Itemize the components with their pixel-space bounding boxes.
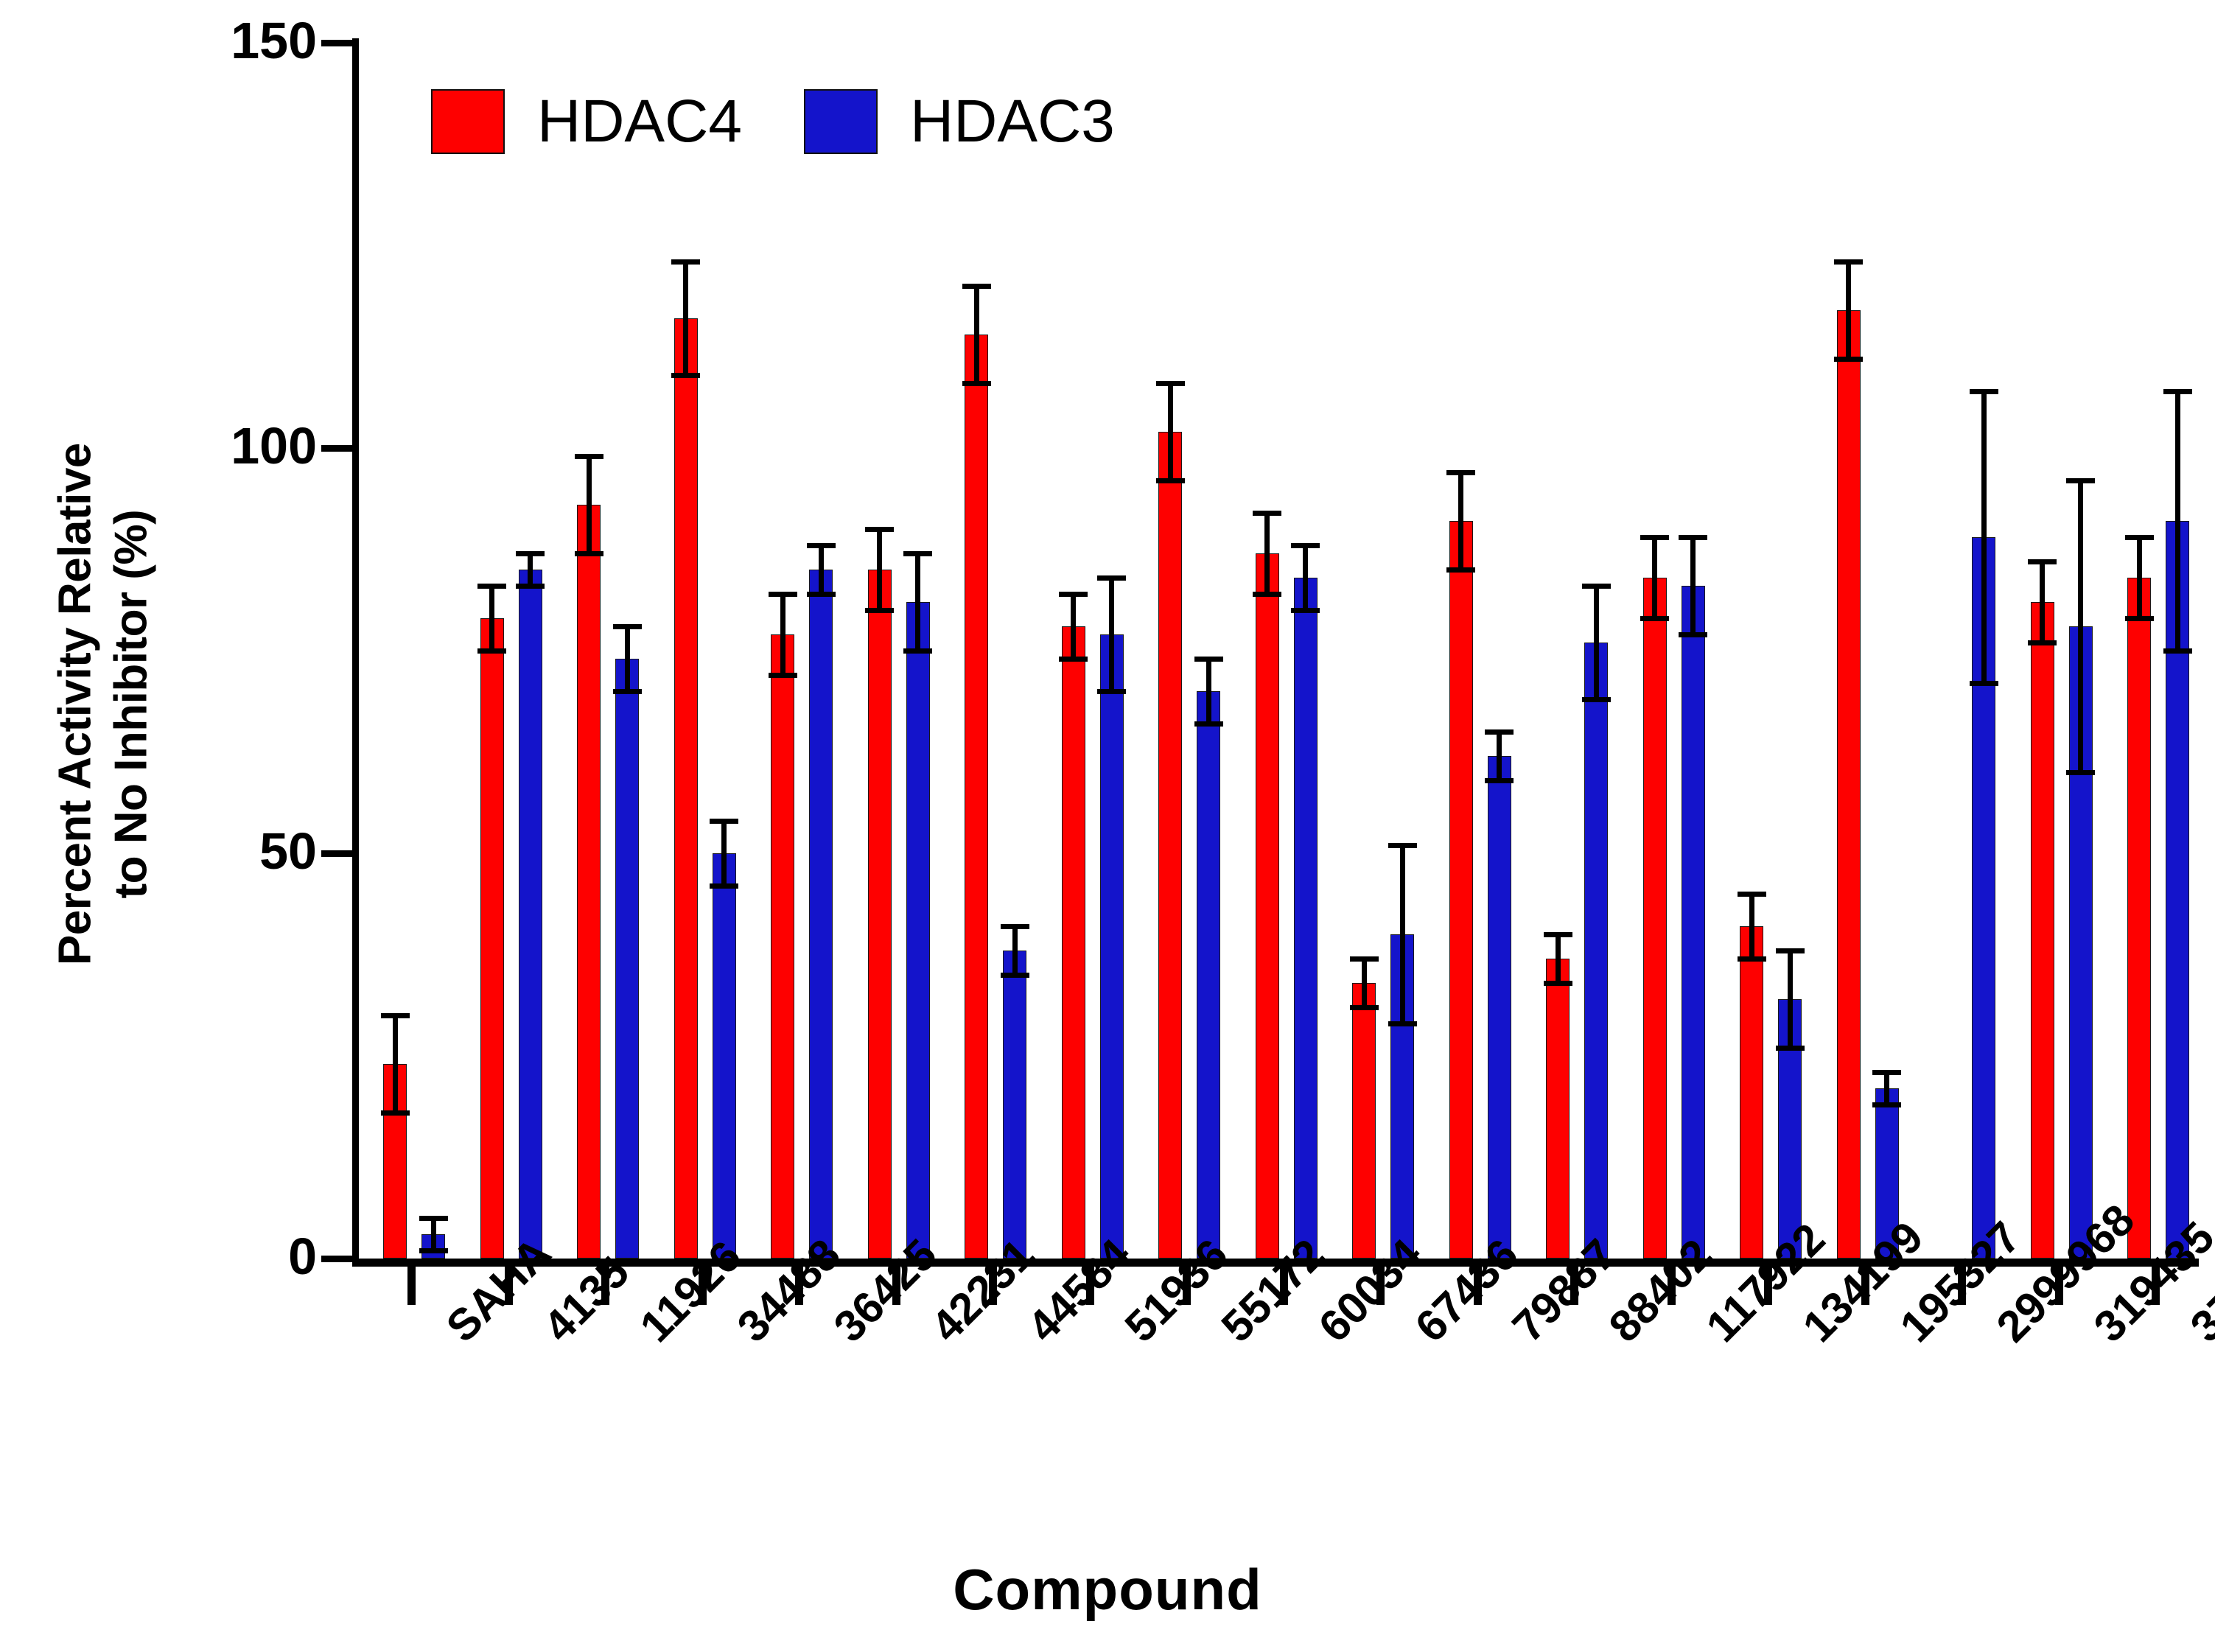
bar-hdac4-51936 xyxy=(1062,626,1085,1259)
bar-hdac4-117922-error-cap-lower xyxy=(1640,616,1669,621)
bar-hdac4-42231 xyxy=(868,570,892,1259)
bar-hdac3-60034-error-cap-lower xyxy=(1291,608,1320,613)
bar-hdac3-79887-error-cap-lower xyxy=(1485,778,1514,783)
bar-hdac3-51936-error-cap-lower xyxy=(1097,689,1126,694)
y-tick-label-50: 50 xyxy=(7,825,317,877)
x-axis-label-4135: 4135 xyxy=(533,1316,570,1352)
bar-hdac4-51936-error-cap-lower xyxy=(1059,657,1088,662)
bar-hdac3-195327-error-cap-upper xyxy=(1872,1070,1901,1075)
bar-hdac3-36425-error-cap-upper xyxy=(807,543,836,548)
bar-hdac3-42231-error-cap-lower xyxy=(903,648,932,654)
x-axis-label-36425: 36425 xyxy=(824,1316,860,1352)
x-tick-67436 xyxy=(1376,1267,1385,1305)
bar-hdac3-34488 xyxy=(713,853,736,1259)
bar-hdac4-319435-error-cap-upper xyxy=(2028,559,2057,564)
bar-hdac3-51936-error-cap-upper xyxy=(1097,575,1126,581)
bar-hdac4-42231-error-cap-lower xyxy=(865,608,894,613)
x-tick-319435 xyxy=(2055,1267,2063,1305)
bar-hdac4-42231-error-line xyxy=(877,529,882,610)
bar-hdac4-88402-error-line xyxy=(1556,934,1561,983)
bar-hdac4-34488-error-line xyxy=(683,262,688,375)
x-tick-117922 xyxy=(1668,1267,1676,1305)
bar-hdac3-34488-error-cap-lower xyxy=(710,883,738,889)
bar-hdac4-11926-error-cap-lower xyxy=(575,551,603,556)
bar-hdac4-373535 xyxy=(2127,578,2151,1259)
bar-hdac3-SAHA-error-cap-upper xyxy=(419,1216,448,1221)
x-tick-88402 xyxy=(1570,1267,1578,1305)
x-tick-373535 xyxy=(2152,1267,2160,1305)
legend-item-hdac3: HDAC3 xyxy=(804,87,1115,156)
bar-hdac4-60034-error-cap-upper xyxy=(1253,511,1281,516)
bar-hdac3-60034 xyxy=(1294,578,1318,1259)
x-axis-label-319435: 319435 xyxy=(2084,1316,2120,1352)
x-axis-label-2999968: 2999968 xyxy=(1987,1316,2023,1352)
bar-hdac4-79887-error-cap-lower xyxy=(1446,567,1475,573)
bar-hdac4-60034-error-line xyxy=(1264,513,1270,594)
bar-hdac3-67436-error-cap-lower xyxy=(1388,1021,1417,1026)
x-axis-label-51936: 51936 xyxy=(1115,1316,1151,1352)
y-tick-100 xyxy=(321,445,355,452)
legend-label-hdac4: HDAC4 xyxy=(537,87,742,156)
bar-hdac3-319435-error-cap-lower xyxy=(2066,770,2095,775)
bar-hdac3-195327-error-cap-lower xyxy=(1872,1102,1901,1107)
bar-hdac4-373535-error-cap-lower xyxy=(2125,616,2154,621)
bar-hdac3-88402-error-line xyxy=(1594,586,1599,699)
bar-hdac3-11926 xyxy=(615,659,639,1259)
bar-hdac4-SAHA-error-cap-lower xyxy=(381,1110,410,1116)
bar-hdac3-55172-error-cap-lower xyxy=(1194,721,1223,727)
bar-hdac4-34488 xyxy=(674,318,698,1259)
x-axis-label-88402: 88402 xyxy=(1599,1316,1635,1352)
bar-hdac4-SAHA-error-line xyxy=(393,1015,398,1113)
bar-hdac4-195327-error-cap-upper xyxy=(1834,259,1863,265)
bar-hdac4-51936-error-cap-upper xyxy=(1059,592,1088,597)
x-tick-44584 xyxy=(989,1267,997,1305)
bar-hdac4-36425-error-cap-lower xyxy=(769,673,797,678)
bar-hdac3-34488-error-cap-upper xyxy=(710,819,738,824)
bar-hdac4-117922-error-cap-upper xyxy=(1640,535,1669,540)
bar-hdac4-42231-error-cap-upper xyxy=(865,527,894,532)
x-tick-4135 xyxy=(505,1267,513,1305)
bar-hdac3-79887-error-cap-upper xyxy=(1485,729,1514,735)
bar-hdac3-195327-error-line xyxy=(1884,1072,1889,1105)
bar-hdac3-36425-error-cap-lower xyxy=(807,592,836,597)
bar-hdac3-4135-error-cap-upper xyxy=(516,551,545,556)
bar-hdac3-44584-error-cap-lower xyxy=(1001,973,1029,978)
bar-hdac3-11926-error-cap-upper xyxy=(613,624,642,629)
bar-hdac4-134199 xyxy=(1740,926,1763,1259)
bar-hdac3-44584 xyxy=(1003,951,1026,1259)
y-tick-label-100: 100 xyxy=(7,420,317,472)
bar-hdac4-88402-error-cap-lower xyxy=(1544,981,1572,986)
legend-item-hdac4: HDAC4 xyxy=(431,87,742,156)
bar-hdac4-4135 xyxy=(480,618,504,1259)
bar-hdac4-51936-error-line xyxy=(1071,594,1076,659)
x-tick-36425 xyxy=(795,1267,803,1305)
bar-hdac3-88402 xyxy=(1584,643,1608,1259)
y-tick-150 xyxy=(321,40,355,46)
bar-hdac3-67436-error-line xyxy=(1400,845,1405,1023)
x-tick-55172 xyxy=(1183,1267,1191,1305)
y-axis-title: Percent Activity Relative to No Inhibito… xyxy=(47,189,158,1220)
x-tick-134199 xyxy=(1764,1267,1772,1305)
legend-label-hdac3: HDAC3 xyxy=(910,87,1115,156)
bar-hdac4-36425 xyxy=(771,634,794,1259)
bar-hdac3-11926-error-cap-lower xyxy=(613,689,642,694)
bar-hdac4-134199-error-cap-upper xyxy=(1738,892,1766,897)
bar-hdac4-134199-error-cap-lower xyxy=(1738,956,1766,962)
bar-hdac4-36425-error-cap-upper xyxy=(769,592,797,597)
bar-hdac4-319435-error-cap-lower xyxy=(2028,640,2057,645)
bar-hdac4-195327-error-line xyxy=(1846,262,1851,359)
bar-hdac4-55172-error-cap-upper xyxy=(1156,381,1185,386)
bar-hdac3-134199-error-cap-upper xyxy=(1776,948,1805,953)
bar-hdac4-195327 xyxy=(1837,310,1861,1259)
bar-hdac3-36425-error-line xyxy=(819,545,824,594)
bar-hdac3-11926-error-line xyxy=(625,626,630,691)
x-axis-label-11926: 11926 xyxy=(630,1316,666,1352)
x-tick-60034 xyxy=(1280,1267,1288,1305)
bar-hdac3-373535-error-cap-lower xyxy=(2163,648,2192,654)
bar-hdac4-44584 xyxy=(965,335,988,1259)
bar-hdac4-117922 xyxy=(1643,578,1667,1259)
bar-hdac4-67436-error-line xyxy=(1362,959,1367,1007)
bar-hdac4-4135-error-cap-upper xyxy=(477,584,506,589)
bar-hdac4-88402 xyxy=(1546,959,1570,1259)
y-tick-label-150: 150 xyxy=(7,15,317,66)
bar-hdac3-42231-error-line xyxy=(915,553,920,651)
bar-hdac3-51936 xyxy=(1100,634,1124,1259)
bar-hdac3-2999968-error-line xyxy=(1981,391,1987,683)
x-tick-34488 xyxy=(699,1267,707,1305)
bar-hdac3-42231 xyxy=(906,602,930,1259)
bar-hdac4-67436 xyxy=(1352,983,1376,1259)
bar-hdac3-55172 xyxy=(1197,691,1220,1259)
bar-hdac4-55172-error-cap-lower xyxy=(1156,478,1185,483)
bar-hdac3-44584-error-cap-upper xyxy=(1001,924,1029,929)
bar-hdac4-319435 xyxy=(2031,602,2054,1259)
bar-hdac4-60034 xyxy=(1256,553,1279,1259)
x-axis-label-55172: 55172 xyxy=(1211,1316,1248,1352)
bar-hdac3-373535-error-cap-upper xyxy=(2163,389,2192,394)
bar-hdac3-34488-error-line xyxy=(721,821,727,886)
bar-hdac4-79887-error-line xyxy=(1458,472,1463,570)
x-axis-label-134199: 134199 xyxy=(1793,1316,1829,1352)
bar-hdac3-4135-error-line xyxy=(528,553,533,586)
x-axis-label-117922: 117922 xyxy=(1696,1316,1732,1352)
bar-hdac3-88402-error-cap-lower xyxy=(1582,697,1611,702)
bar-hdac4-44584-error-line xyxy=(974,286,979,383)
bar-hdac4-79887-error-cap-upper xyxy=(1446,470,1475,475)
bar-hdac4-319435-error-line xyxy=(2040,561,2045,643)
bar-hdac4-55172 xyxy=(1158,432,1182,1259)
bar-hdac4-11926-error-line xyxy=(587,456,592,553)
x-axis-label-67436: 67436 xyxy=(1405,1316,1441,1352)
bar-hdac3-2999968-error-cap-upper xyxy=(1970,389,1998,394)
bar-hdac3-79887-error-line xyxy=(1497,732,1502,780)
bar-hdac4-88402-error-cap-upper xyxy=(1544,932,1572,937)
bar-hdac4-SAHA-error-cap-upper xyxy=(381,1013,410,1018)
bar-hdac3-2999968-error-cap-lower xyxy=(1970,681,1998,686)
bar-hdac4-134199-error-line xyxy=(1749,894,1754,959)
bar-hdac4-34488-error-cap-upper xyxy=(671,259,700,265)
bar-hdac3-67436-error-cap-upper xyxy=(1388,843,1417,848)
bar-hdac3-36425 xyxy=(809,570,833,1259)
bar-hdac4-373535-error-line xyxy=(2137,537,2142,618)
bar-hdac4-11926-error-cap-upper xyxy=(575,454,603,459)
y-tick-label-0: 0 xyxy=(7,1231,317,1282)
bar-hdac3-88402-error-cap-upper xyxy=(1582,584,1611,589)
bar-hdac4-79887 xyxy=(1449,521,1473,1259)
x-axis-label-79887: 79887 xyxy=(1502,1316,1539,1352)
plot-area xyxy=(355,43,2196,1259)
y-tick-0 xyxy=(321,1256,355,1262)
bar-hdac3-117922 xyxy=(1682,586,1705,1259)
x-axis-label-60034: 60034 xyxy=(1309,1316,1345,1352)
bar-hdac3-117922-error-line xyxy=(1690,537,1696,634)
y-axis-title-line-1: Percent Activity Relative xyxy=(47,189,103,1220)
x-tick-79887 xyxy=(1474,1267,1482,1305)
y-tick-50 xyxy=(321,850,355,857)
bar-hdac4-44584-error-cap-upper xyxy=(962,284,991,289)
bar-hdac3-79887 xyxy=(1488,756,1511,1259)
bar-hdac4-44584-error-cap-lower xyxy=(962,381,991,386)
bar-hdac3-60034-error-line xyxy=(1303,545,1308,610)
bar-hdac3-60034-error-cap-upper xyxy=(1291,543,1320,548)
x-axis-title: Compound xyxy=(0,1556,2215,1623)
bar-hdac4-4135-error-cap-lower xyxy=(477,648,506,654)
x-axis-label-42231: 42231 xyxy=(921,1316,957,1352)
bar-hdac3-134199-error-cap-lower xyxy=(1776,1046,1805,1051)
bar-chart-figure: Percent Activity Relative to No Inhibito… xyxy=(0,0,2215,1652)
x-axis-label-34488: 34488 xyxy=(727,1316,763,1352)
bar-hdac3-SAHA-error-cap-lower xyxy=(419,1248,448,1253)
x-tick-195327 xyxy=(1861,1267,1869,1305)
bar-hdac3-319435-error-cap-upper xyxy=(2066,478,2095,483)
bar-hdac3-117922-error-cap-lower xyxy=(1679,632,1707,637)
bar-hdac4-117922-error-line xyxy=(1652,537,1657,618)
bar-hdac4-373535-error-cap-upper xyxy=(2125,535,2154,540)
x-tick-42231 xyxy=(892,1267,900,1305)
bar-hdac3-55172-error-cap-upper xyxy=(1194,657,1223,662)
x-axis-label-SAHA: SAHA xyxy=(436,1316,472,1352)
bar-hdac4-36425-error-line xyxy=(780,594,785,675)
bar-hdac3-42231-error-cap-upper xyxy=(903,551,932,556)
bar-hdac4-67436-error-cap-upper xyxy=(1350,956,1379,962)
bar-hdac4-11926 xyxy=(577,505,601,1259)
bar-hdac3-51936-error-line xyxy=(1109,578,1114,691)
bar-hdac3-55172-error-line xyxy=(1206,659,1211,724)
bar-hdac4-195327-error-cap-lower xyxy=(1834,357,1863,362)
bar-hdac3-117922-error-cap-upper xyxy=(1679,535,1707,540)
x-tick-SAHA xyxy=(407,1267,416,1305)
bar-hdac4-55172-error-line xyxy=(1168,383,1173,480)
bar-hdac3-4135 xyxy=(519,570,542,1259)
bar-hdac3-319435-error-line xyxy=(2078,480,2083,772)
chart-legend: HDAC4 HDAC3 xyxy=(431,87,1115,156)
bar-hdac3-373535-error-line xyxy=(2175,391,2180,651)
bar-hdac4-60034-error-cap-lower xyxy=(1253,592,1281,597)
x-axis-label-373535: 373535 xyxy=(2180,1316,2215,1352)
x-tick-2999968 xyxy=(1958,1267,1966,1305)
bar-hdac4-4135-error-line xyxy=(489,586,494,651)
bar-hdac4-34488-error-cap-lower xyxy=(671,373,700,378)
legend-swatch-hdac3-icon xyxy=(804,89,878,154)
legend-swatch-hdac4-icon xyxy=(431,89,505,154)
x-axis-label-195327: 195327 xyxy=(1890,1316,1926,1352)
x-tick-51936 xyxy=(1086,1267,1094,1305)
bar-hdac3-SAHA-error-line xyxy=(431,1218,436,1250)
bar-hdac3-134199-error-line xyxy=(1788,951,1793,1048)
x-axis-label-44584: 44584 xyxy=(1018,1316,1054,1352)
bar-hdac3-44584-error-line xyxy=(1012,926,1018,975)
y-axis-title-line-2: to No Inhibitor (%) xyxy=(103,189,159,1220)
bar-hdac4-67436-error-cap-lower xyxy=(1350,1005,1379,1010)
bar-hdac3-4135-error-cap-lower xyxy=(516,584,545,589)
x-tick-11926 xyxy=(601,1267,609,1305)
